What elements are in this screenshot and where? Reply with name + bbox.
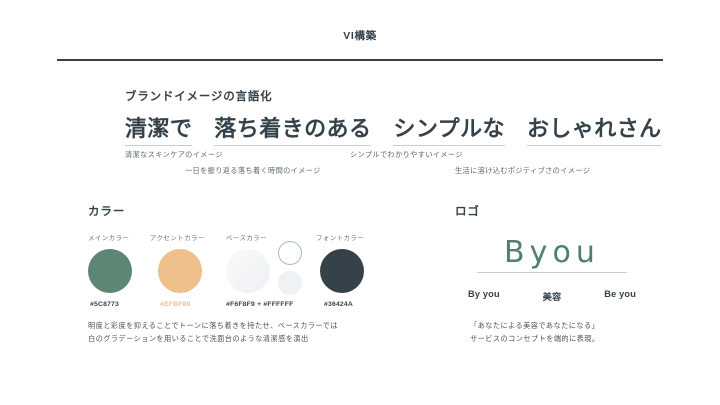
swatch-accent xyxy=(158,249,202,293)
hex-label-base: #F6F8F9 + #FFFFFF xyxy=(226,301,293,308)
color-note-line-2: 白のグラデーションを用いることで洗面台のような清潔感を演出 xyxy=(88,333,338,346)
brand-image-section: ブランドイメージの言語化 清潔で 落ち着きのある シンプルな おしゃれさん xyxy=(125,88,680,146)
swatch-base-small xyxy=(278,271,302,295)
swatch-label-font: フォントカラー xyxy=(316,233,364,242)
logo-meaning-list: By you 美容 Be you xyxy=(468,289,636,303)
logo-note-line-2: サービスのコンセプトを端的に表現。 xyxy=(470,333,600,346)
swatch-label-base: ベースカラー xyxy=(226,233,267,242)
color-section: カラー メインカラー #5C8773 アクセントカラー #EFBF89 ベースカ… xyxy=(88,203,388,305)
logo-note: 「あなたによる美容であなたになる」 サービスのコンセプトを端的に表現。 xyxy=(470,320,600,345)
color-note: 明度と彩度を抑えることでトーンに落ち着きを持たせ、ベースカラーでは 白のグラデー… xyxy=(88,320,338,345)
logo-wordmark: Byou xyxy=(477,237,627,269)
brand-image-heading: ブランドイメージの言語化 xyxy=(125,88,680,104)
swatch-label-accent: アクセントカラー xyxy=(150,233,205,242)
color-dot-base-gradient xyxy=(226,249,270,293)
brand-caption: シンプルでわかりやすいイメージ xyxy=(350,150,463,160)
brand-caption: 一日を振り返る落ち着く時間のイメージ xyxy=(185,166,321,176)
color-dot-base-white xyxy=(278,241,302,265)
logo-section-heading: ロゴ xyxy=(455,203,675,219)
logo-section: ロゴ Byou By you 美容 Be you xyxy=(455,203,675,303)
hex-label-font: #36424A xyxy=(324,301,353,308)
logo-meaning: By you xyxy=(468,289,500,303)
swatch-label-main: メインカラー xyxy=(88,233,129,242)
color-note-line-1: 明度と彩度を抑えることでトーンに落ち着きを持たせ、ベースカラーでは xyxy=(88,320,338,333)
logo-note-line-1: 「あなたによる美容であなたになる」 xyxy=(470,320,600,333)
slide-header: VI構築 xyxy=(0,28,720,43)
brand-keyword: シンプルな xyxy=(393,116,505,146)
header-divider xyxy=(57,59,663,61)
hex-label-main: #5C8773 xyxy=(90,301,119,308)
swatch-font xyxy=(320,249,364,293)
brand-keyword-list: 清潔で 落ち着きのある シンプルな おしゃれさん xyxy=(125,116,680,146)
color-section-heading: カラー xyxy=(88,203,388,219)
swatch-base-outline xyxy=(278,241,302,265)
color-dot-main xyxy=(88,249,132,293)
brand-caption: 生活に溶け込むポジティブさのイメージ xyxy=(455,166,590,176)
swatch-main xyxy=(88,249,132,293)
brand-keyword: 落ち着きのある xyxy=(214,116,371,146)
color-dot-base-light xyxy=(278,271,302,295)
color-dot-accent xyxy=(158,249,202,293)
brand-caption-group: 清潔なスキンケアのイメージ 一日を振り返る落ち着く時間のイメージ シンプルでわか… xyxy=(125,150,680,184)
brand-keyword: 清潔で xyxy=(125,116,192,146)
logo-meaning: 美容 xyxy=(543,289,562,303)
logo-mark: Byou xyxy=(477,237,627,273)
logo-underline xyxy=(477,272,627,273)
hex-label-accent: #EFBF89 xyxy=(160,301,191,308)
page-title: VI構築 xyxy=(0,28,720,43)
brand-caption: 清潔なスキンケアのイメージ xyxy=(125,150,223,160)
color-dot-font xyxy=(320,249,364,293)
logo-meaning: Be you xyxy=(604,289,636,303)
slide-canvas: VI構築 ブランドイメージの言語化 清潔で 落ち着きのある シンプルな おしゃれ… xyxy=(0,0,720,405)
swatch-base-large xyxy=(226,249,270,293)
color-swatch-row: メインカラー #5C8773 アクセントカラー #EFBF89 ベースカラー xyxy=(88,233,388,305)
brand-keyword: おしゃれさん xyxy=(527,116,662,146)
